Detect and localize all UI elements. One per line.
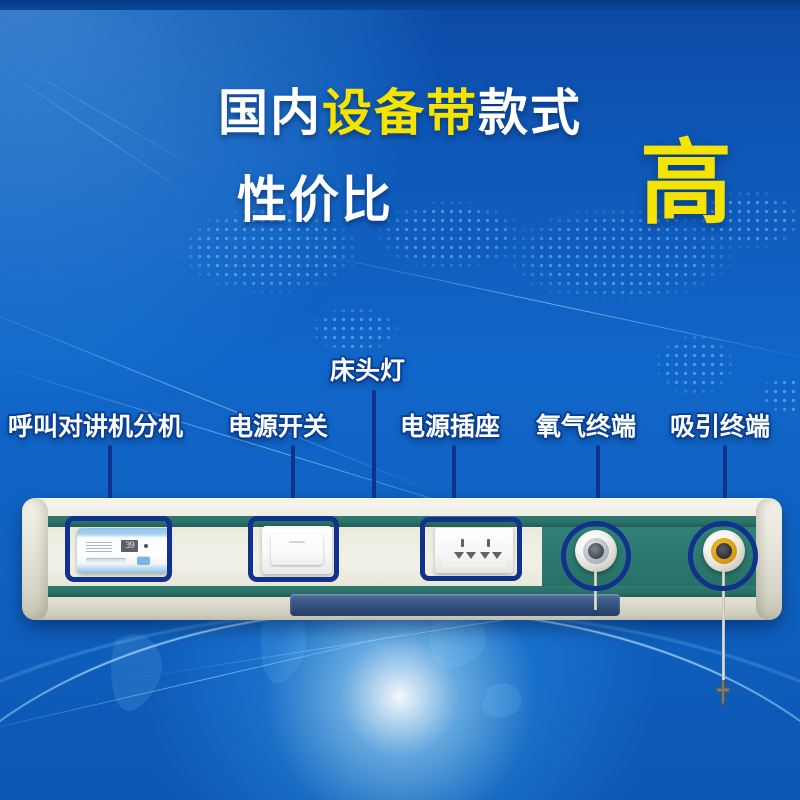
- callout-label-power-socket: 电源插座: [400, 414, 500, 439]
- pull-cord-hook-icon[interactable]: [713, 680, 733, 706]
- panel-end-cap-left: [22, 498, 48, 620]
- headline-emphasis: 高: [640, 138, 732, 230]
- pull-cord[interactable]: [722, 612, 725, 684]
- bedside-lamp[interactable]: [290, 594, 620, 616]
- headline-text-part3: 款式: [478, 84, 582, 142]
- highlight-power-socket: [420, 517, 522, 581]
- callout-label-suction: 吸引终端: [670, 414, 770, 439]
- poster-canvas: 国内设备带款式 性价比 高 呼叫对讲机分机 电源开关 床头灯 电源插座 氧气终端…: [0, 0, 800, 800]
- callout-label-bedside-lamp: 床头灯: [330, 358, 405, 383]
- highlight-power-switch: [248, 516, 339, 582]
- highlight-suction: [688, 521, 758, 591]
- top-band: [0, 0, 800, 10]
- callout-label-oxygen: 氧气终端: [536, 414, 636, 439]
- panel-end-cap-right: [756, 498, 782, 620]
- highlight-intercom: [65, 516, 172, 582]
- headline-text-part1: 国内: [218, 84, 322, 142]
- callout-label-power-switch: 电源开关: [228, 414, 328, 439]
- headline-text-part2: 设备带: [322, 84, 478, 142]
- highlight-oxygen: [561, 521, 631, 591]
- callout-label-intercom: 呼叫对讲机分机: [8, 414, 183, 439]
